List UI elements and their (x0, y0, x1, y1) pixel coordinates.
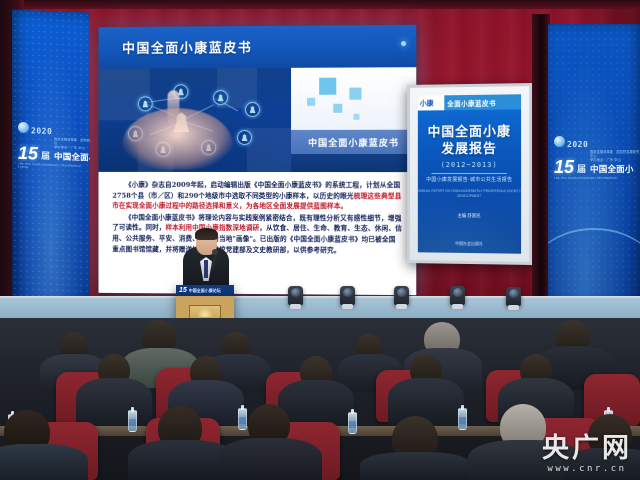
right-banner-logo-block: 2020 15 届 国家发展改革委 国务院发展研究中心 举办地点：广东·中山 中… (554, 136, 640, 180)
right-event-banner: 2020 15 届 国家发展改革委 国务院发展研究中心 举办地点：广东·中山 中… (548, 24, 640, 310)
water-bottle (128, 410, 137, 432)
right-banner-title: 中国全面小 (590, 163, 640, 175)
water-bottle (348, 412, 357, 434)
book-divider (432, 173, 507, 174)
person-node-icon (245, 102, 260, 117)
audience-shoulders (76, 378, 152, 426)
book-title: 中国全面小康 发展报告 (418, 123, 521, 158)
conference-photo-scene: 2020 15 届 国家发展改革委 国务院发展研究中心 指导单位 举办地点：广东… (0, 0, 640, 480)
stage-light-icon (450, 286, 465, 305)
hand-network-graphic (99, 68, 292, 172)
stage-light-icon (394, 286, 409, 305)
book-header-badge: 小康 全面小康蓝皮书 (418, 94, 521, 110)
stage-light-row (0, 284, 640, 310)
watermark-logo-text: 央广网 (542, 435, 632, 463)
person-node-icon (138, 96, 153, 111)
slide-deep-band (291, 154, 416, 172)
person-node-icon (213, 90, 228, 105)
person-node-icon (237, 130, 252, 145)
book-series-english: ANNUAL REPORT ON CHINA MODERATELY PROSPE… (418, 189, 521, 199)
audience-shoulders (218, 438, 322, 480)
speaker-tie (204, 260, 208, 278)
right-banner-subline-3: THE 15TH CHINA MODERATELY PROSPEROUS (554, 177, 640, 181)
left-banner-title: 中国全面小康论坛 (54, 150, 90, 165)
stage-light-icon (288, 286, 303, 305)
slide-panel-caption: 中国全面小康蓝皮书 (308, 135, 399, 148)
left-banner-logo-block: 2020 15 届 国家发展改革委 国务院发展研究中心 指导单位 举办地点：广东… (18, 122, 84, 172)
book-cover-poster: 小康 全面小康蓝皮书 中国全面小康 发展报告 (2012~2013) 中国小康发… (407, 83, 532, 265)
left-banner-year: 2020 (31, 127, 52, 136)
book-years: (2012~2013) (418, 161, 521, 169)
slide-title: 中国全面小康蓝皮书 (122, 37, 252, 57)
broadcaster-watermark: 央广网 www.cnr.cn (542, 435, 632, 474)
left-event-banner: 2020 15 届 国家发展改革委 国务院发展研究中心 指导单位 举办地点：广东… (12, 10, 90, 313)
audience-shoulders (0, 444, 88, 480)
book-title-line-2: 发展报告 (418, 140, 521, 157)
left-banner-ordinal-unit: 届 (41, 148, 50, 161)
globe-icon (18, 122, 29, 133)
left-banner-ordinal-number: 15 (18, 144, 38, 161)
right-banner-ordinal-number: 15 (554, 159, 574, 175)
slide-paragraph-2: 《中国全面小康蓝皮书》将理论内容与实践案例紧密结合，既有理性分析又有感性细节，增… (112, 212, 402, 256)
projection-screen: 中国全面小康蓝皮书 (99, 25, 417, 295)
slide-caption-band: 中国全面小康蓝皮书 (291, 130, 416, 154)
book-cover: 小康 全面小康蓝皮书 中国全面小康 发展报告 (2012~2013) 中国小康发… (418, 94, 521, 253)
right-banner-ordinal-unit: 届 (577, 162, 586, 175)
book-badge-right: 全面小康蓝皮书 (444, 97, 496, 108)
speaker-hair (195, 228, 218, 240)
book-badge-left: 小康 (418, 98, 444, 108)
open-palm-hand (122, 108, 233, 170)
microphone-head (212, 249, 218, 255)
stage-light-icon (506, 287, 521, 306)
book-author: 主编 舒富民 (418, 213, 521, 220)
slide-body-text: 《小康》杂志自2009年起，启动编辑出版《中国全面小康蓝皮书》的系统工程，计划从… (104, 174, 410, 293)
presentation-slide: 中国全面小康蓝皮书 (99, 25, 417, 295)
slide-paragraph-1: 《小康》杂志自2009年起，启动编辑出版《中国全面小康蓝皮书》的系统工程，计划从… (112, 180, 402, 212)
watermark-url: www.cnr.cn (542, 464, 632, 474)
stage-light-icon (340, 286, 355, 305)
book-subtitle: 中国小康发展报告·城市公共生活报告 (418, 176, 521, 183)
water-bottle (238, 408, 247, 430)
slide-white-panel (291, 67, 416, 130)
audience-shoulders (360, 452, 472, 480)
globe-icon (554, 136, 565, 147)
ceiling-band (0, 0, 640, 9)
right-banner-year: 2020 (567, 141, 588, 149)
book-title-line-1: 中国全面小康 (418, 123, 521, 141)
slide-accent-dot-icon (401, 41, 406, 46)
water-bottle (458, 408, 467, 430)
